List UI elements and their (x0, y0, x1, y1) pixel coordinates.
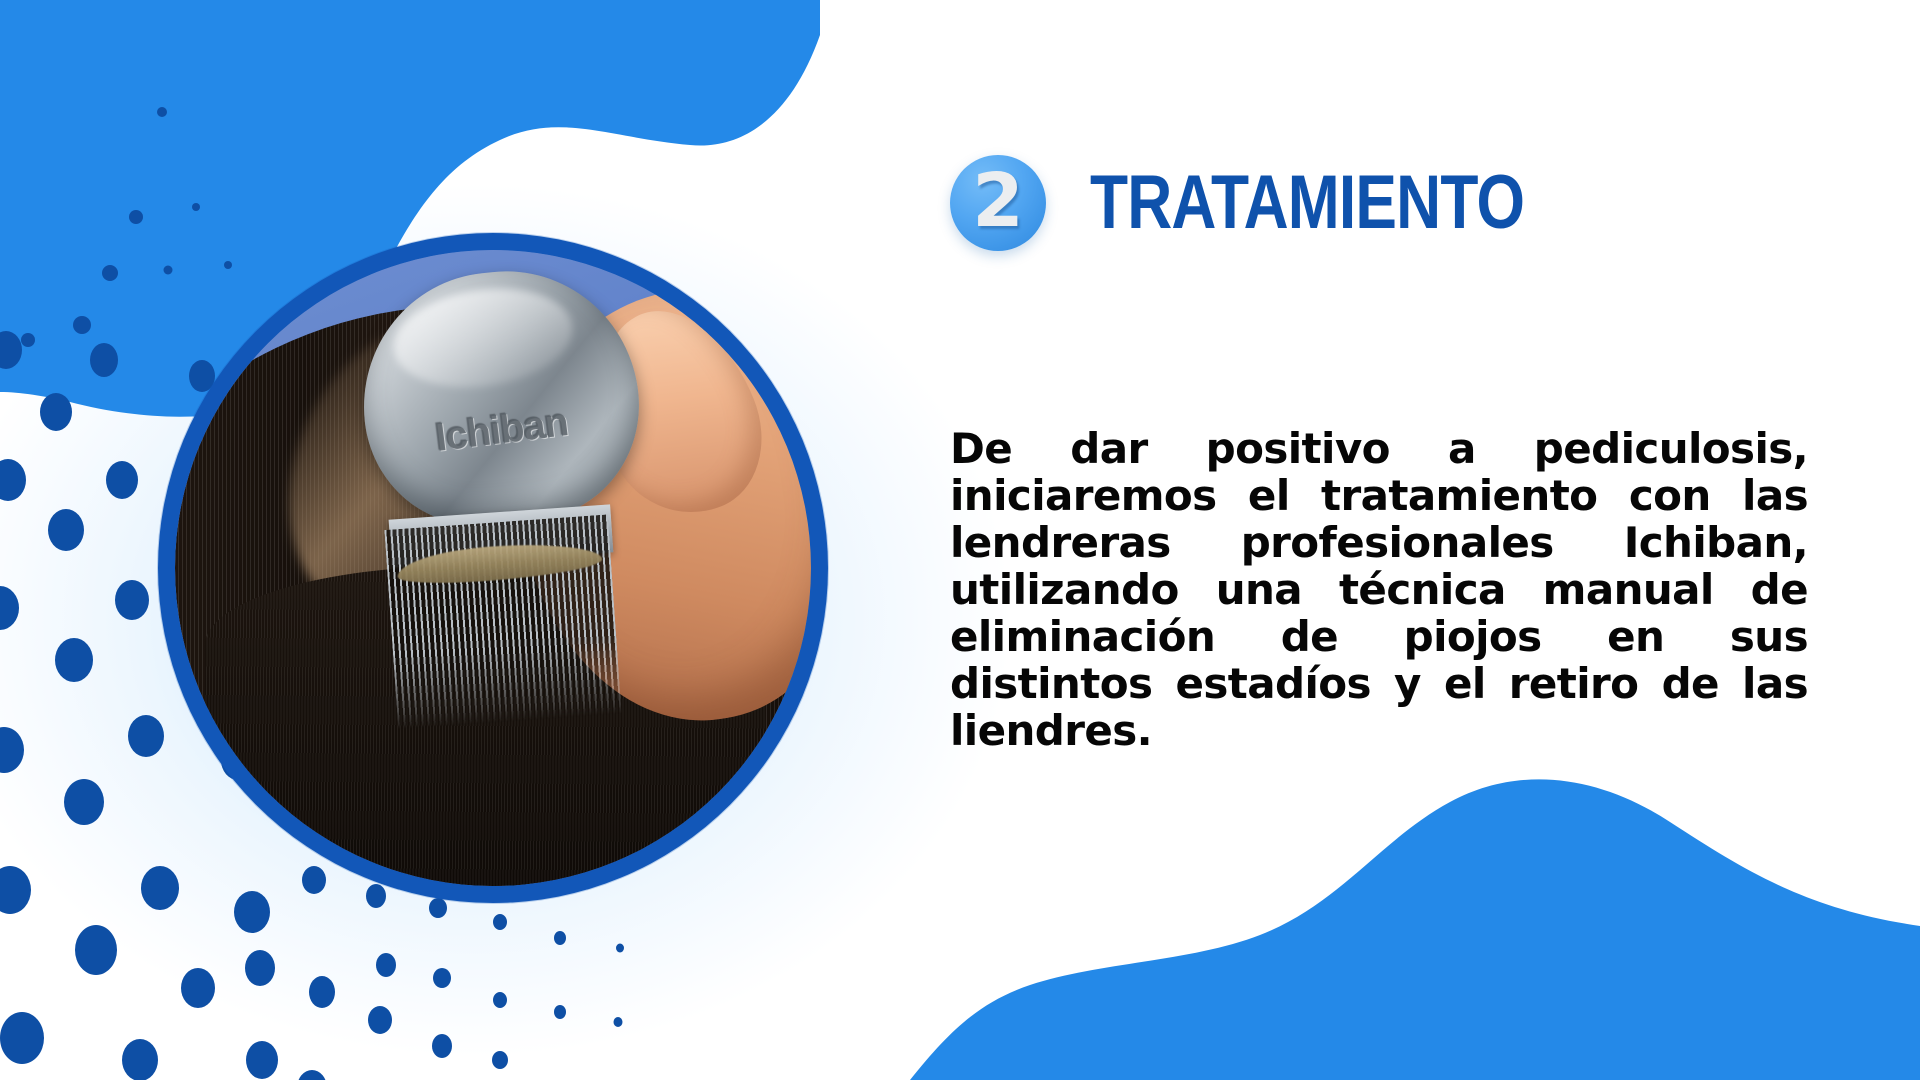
body-paragraph: De dar positivo a pediculosis, iniciarem… (950, 425, 1808, 801)
circular-photo-frame: Ichiban (158, 233, 828, 903)
section-header: 2 TRATAMIENTO (950, 155, 1619, 251)
section-number-text: 2 (950, 155, 1046, 251)
content-column: 2 TRATAMIENTO De dar positivo a pediculo… (925, 0, 1795, 1080)
page-title: TRATAMIENTO (1090, 165, 1524, 241)
circular-photo: Ichiban (175, 250, 811, 886)
section-number-badge: 2 (950, 155, 1046, 251)
slide-canvas: Ichiban 2 TRATAMIENTO De dar positivo a … (0, 0, 1920, 1080)
lice-comb-photo-composition: Ichiban (175, 250, 811, 886)
